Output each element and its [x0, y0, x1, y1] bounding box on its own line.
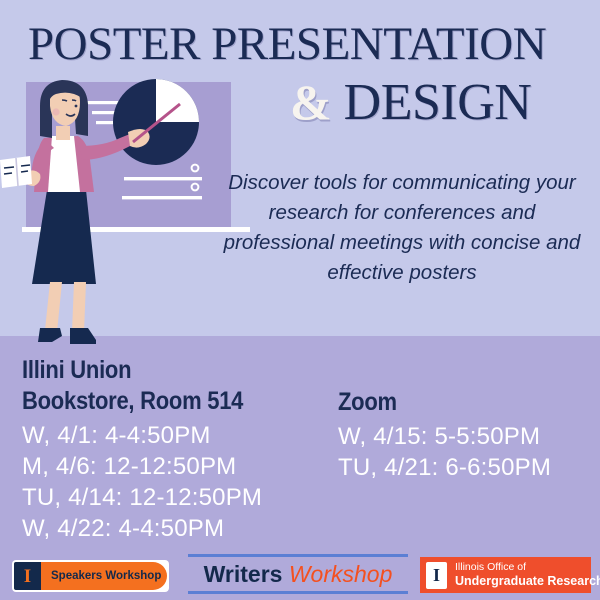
description-text: Discover tools for communicating your re… — [216, 168, 588, 288]
logo-undergraduate-research[interactable]: I Illinois Office of Undergraduate Resea… — [420, 557, 591, 593]
illinois-shield-icon: I — [426, 562, 447, 589]
illinois-block-i-icon: I — [14, 562, 41, 590]
session-row: W, 4/22: 4-4:50PM — [22, 513, 273, 544]
logo-writers-workshop[interactable]: Writers Workshop — [188, 554, 408, 594]
session-list-in-person: W, 4/1: 4-4:50PM M, 4/6: 12-12:50PM TU, … — [22, 420, 273, 544]
footer-logo-bar: I Speakers Workshop Writers Workshop I I… — [0, 548, 600, 600]
venue-line-zoom: Zoom — [338, 387, 525, 418]
shoe-left — [38, 328, 62, 342]
writers-workshop-label: Writers Workshop — [188, 561, 408, 587]
speakers-workshop-label: Speakers Workshop — [41, 570, 161, 582]
session-list-zoom: W, 4/15: 5-5:50PM TU, 4/21: 6-6:50PM — [338, 421, 551, 483]
writers-word: Writers — [204, 561, 283, 587]
papers — [0, 156, 32, 188]
poster-canvas: POSTER PRESENTATION & DESIGN Discover to… — [0, 0, 600, 600]
schedule-column-in-person: Illini Union Bookstore, Room 514 W, 4/1:… — [22, 355, 273, 544]
session-row: W, 4/1: 4-4:50PM — [22, 420, 273, 451]
session-row: TU, 4/21: 6-6:50PM — [338, 452, 551, 483]
uor-line-2: Undergraduate Research — [455, 574, 600, 589]
undergraduate-research-label: Illinois Office of Undergraduate Researc… — [447, 561, 600, 589]
uor-line-1: Illinois Office of — [455, 561, 600, 574]
leg-right — [72, 282, 86, 332]
leg-left — [45, 282, 62, 332]
shield-i-letter: I — [433, 566, 440, 584]
session-row: M, 4/6: 12-12:50PM — [22, 451, 273, 482]
logo-speakers-workshop[interactable]: I Speakers Workshop — [12, 560, 169, 592]
speakers-workshop-pill: I Speakers Workshop — [14, 562, 167, 590]
workshop-word: Workshop — [289, 561, 393, 587]
venue-line-2: Bookstore, Room 514 — [22, 386, 243, 417]
block-i-letter: I — [24, 567, 31, 586]
shoe-right — [70, 328, 96, 344]
schedule-column-zoom: Zoom W, 4/15: 5-5:50PM TU, 4/21: 6-6:50P… — [338, 387, 551, 483]
venue-line-1: Illini Union — [22, 355, 243, 386]
neck — [56, 126, 70, 140]
session-row: TU, 4/14: 12-12:50PM — [22, 482, 273, 513]
session-row: W, 4/15: 5-5:50PM — [338, 421, 551, 452]
presenter-illustration — [0, 60, 250, 360]
